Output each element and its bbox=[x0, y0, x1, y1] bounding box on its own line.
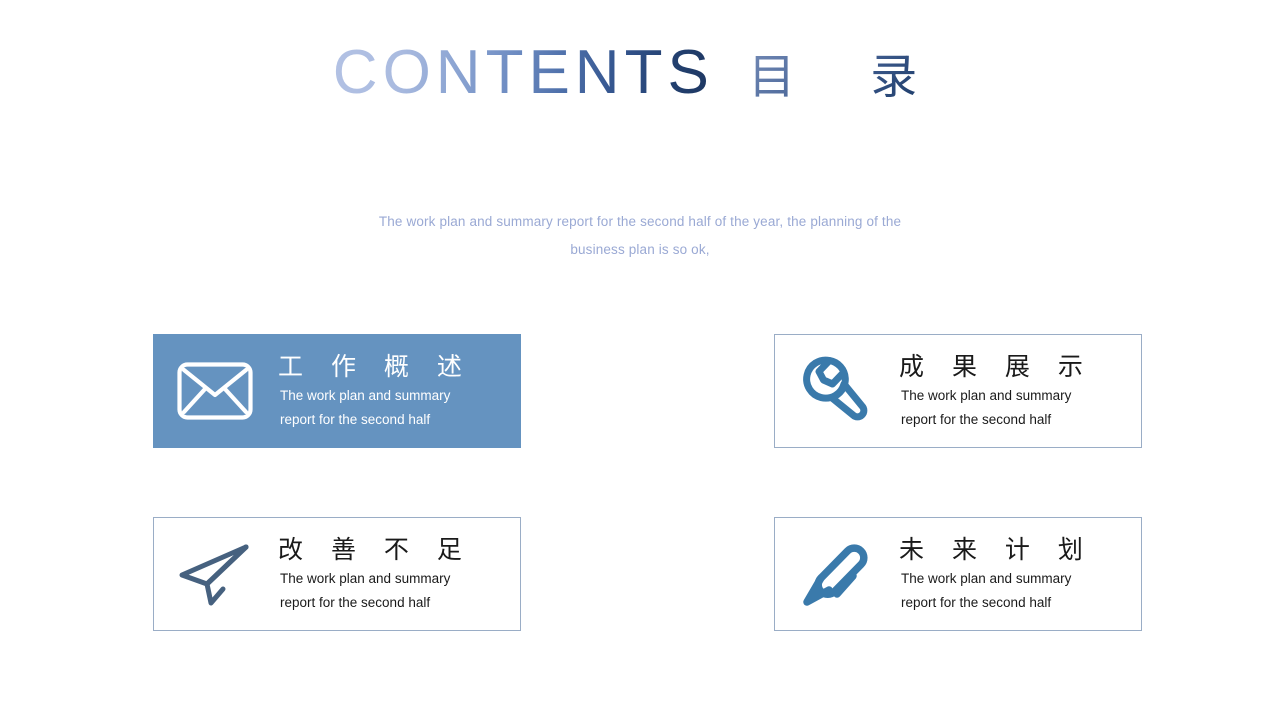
card-text: 成 果 展 示 The work plan and summary report… bbox=[897, 350, 1141, 432]
card-desc-line-2: report for the second half bbox=[897, 408, 1051, 432]
card-heading: 未 来 计 划 bbox=[897, 533, 1093, 567]
card-desc-line-1: The work plan and summary bbox=[897, 384, 1071, 408]
page-title-chinese: 目 录 bbox=[718, 50, 947, 106]
card-text: 未 来 计 划 The work plan and summary report… bbox=[897, 533, 1141, 615]
contents-item-work-overview[interactable]: 工 作 概 述 The work plan and summary report… bbox=[153, 334, 521, 448]
card-text: 工 作 概 述 The work plan and summary report… bbox=[276, 350, 520, 432]
card-heading: 工 作 概 述 bbox=[276, 350, 472, 384]
paper-plane-icon bbox=[154, 517, 276, 631]
card-text: 改 善 不 足 The work plan and summary report… bbox=[276, 533, 520, 615]
card-desc-line-2: report for the second half bbox=[897, 591, 1051, 615]
subtitle-line-2: business plan is so ok, bbox=[320, 236, 960, 264]
pen-icon bbox=[775, 517, 897, 631]
card-heading: 成 果 展 示 bbox=[897, 350, 1093, 384]
card-desc-line-2: report for the second half bbox=[276, 591, 430, 615]
card-desc-line-1: The work plan and summary bbox=[897, 567, 1071, 591]
envelope-icon bbox=[154, 334, 276, 448]
card-heading: 改 善 不 足 bbox=[276, 533, 472, 567]
header: CONTENTS 目 录 bbox=[0, 34, 1280, 110]
contents-card-grid: 工 作 概 述 The work plan and summary report… bbox=[153, 334, 1142, 631]
card-desc-line-1: The work plan and summary bbox=[276, 567, 450, 591]
subtitle-line-1: The work plan and summary report for the… bbox=[320, 208, 960, 236]
contents-item-achievements[interactable]: 成 果 展 示 The work plan and summary report… bbox=[774, 334, 1142, 448]
card-desc-line-1: The work plan and summary bbox=[276, 384, 450, 408]
slide-contents: CONTENTS 目 录 The work plan and summary r… bbox=[0, 0, 1280, 720]
subtitle: The work plan and summary report for the… bbox=[320, 208, 960, 264]
page-title: CONTENTS bbox=[333, 36, 714, 110]
wrench-icon bbox=[775, 334, 897, 448]
contents-item-improvements[interactable]: 改 善 不 足 The work plan and summary report… bbox=[153, 517, 521, 631]
contents-item-future-plan[interactable]: 未 来 计 划 The work plan and summary report… bbox=[774, 517, 1142, 631]
card-desc-line-2: report for the second half bbox=[276, 408, 430, 432]
